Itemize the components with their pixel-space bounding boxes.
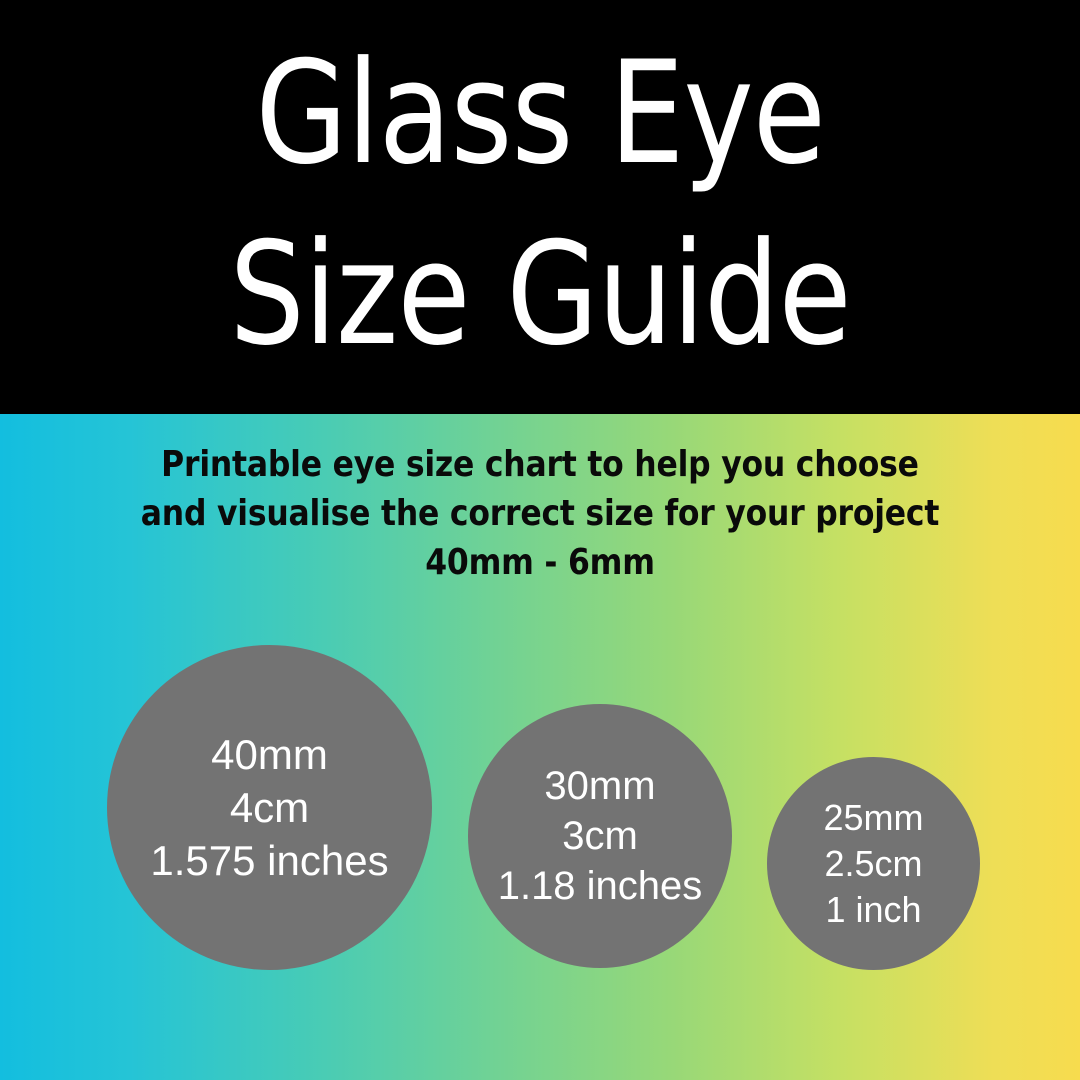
glass-eye-size-guide-poster: Glass Eye Size Guide Printable eye size … bbox=[0, 0, 1080, 1080]
size-circle-30mm-mm-label: 30mm bbox=[544, 761, 655, 811]
size-circle-30mm: 30mm 3cm 1.18 inches bbox=[468, 704, 732, 968]
size-circle-25mm-cm-label: 2.5cm bbox=[824, 841, 922, 887]
size-circle-40mm-cm-label: 4cm bbox=[230, 781, 309, 834]
size-circle-40mm: 40mm 4cm 1.575 inches bbox=[107, 645, 432, 970]
page-title-line-1: Glass Eye bbox=[255, 44, 825, 183]
header-band: Glass Eye Size Guide bbox=[0, 0, 1080, 414]
size-circle-40mm-mm-label: 40mm bbox=[211, 728, 328, 781]
size-circle-40mm-inch-label: 1.575 inches bbox=[150, 834, 388, 887]
page-title-line-2: Size Guide bbox=[229, 225, 850, 364]
size-circle-30mm-inch-label: 1.18 inches bbox=[498, 861, 703, 911]
size-circle-30mm-cm-label: 3cm bbox=[562, 811, 638, 861]
size-circle-25mm: 25mm 2.5cm 1 inch bbox=[767, 757, 980, 970]
size-circle-row: 40mm 4cm 1.575 inches 30mm 3cm 1.18 inch… bbox=[0, 414, 1080, 1080]
size-circle-25mm-mm-label: 25mm bbox=[823, 795, 923, 841]
size-circle-25mm-inch-label: 1 inch bbox=[825, 887, 921, 933]
